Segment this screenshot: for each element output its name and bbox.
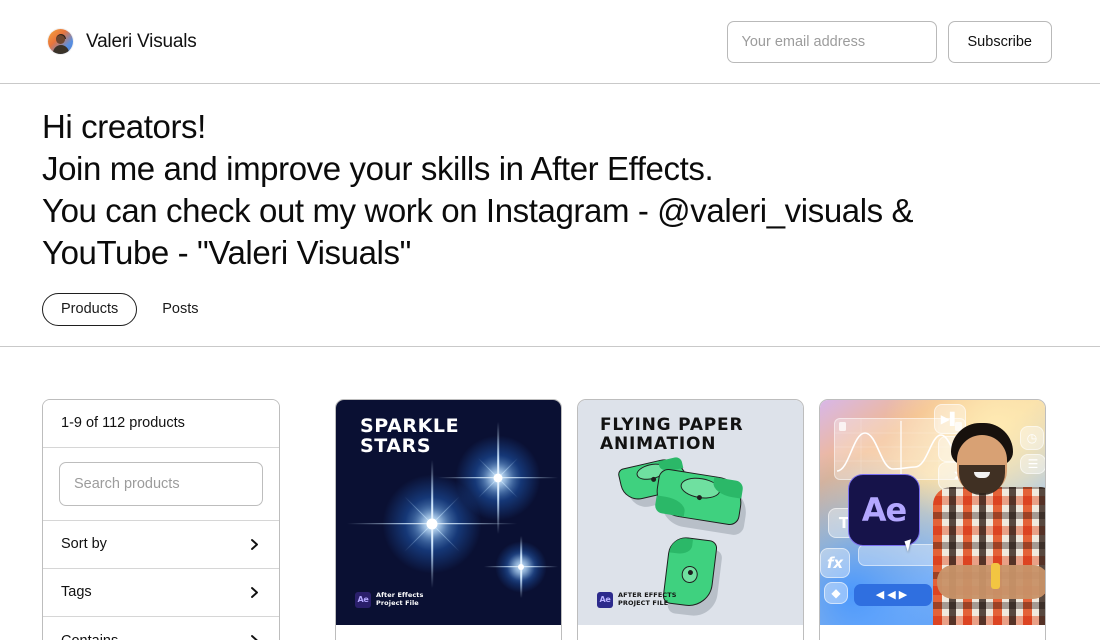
shapes-icon: ◆ [824,582,848,604]
transport-controls: ◀◀▶ [854,584,932,606]
bio-text: Hi creators! Join me and improve your sk… [42,106,1052,274]
product-card-footer [820,625,1045,640]
product-grid: SPARKLE STARS [335,399,1046,640]
product-thumbnail: SPARKLE STARS [336,400,561,625]
search-products-input[interactable] [59,462,263,506]
fx-tool-icon: fx [820,548,850,578]
subscribe-group: Subscribe [727,21,1052,63]
subscribe-button[interactable]: Subscribe [948,21,1052,63]
product-title: SPARKLE STARS [360,416,459,457]
brand[interactable]: Valeri Visuals [48,29,197,54]
tab-products[interactable]: Products [42,293,137,326]
search-products-wrap [43,448,279,521]
product-thumbnail: ▶▌ ▶ ⧗ ◷ ☰ ▤ T fx Panel Compo ◆ ✋ ◀◀▶ Ae [820,400,1045,625]
filter-row-tags[interactable]: Tags [43,569,279,617]
product-title: FLYING PAPER ANIMATION [600,416,743,454]
product-card-sparkle-stars[interactable]: SPARKLE STARS [335,399,562,640]
product-count-label: 1-9 of 112 products [61,415,185,431]
badge-text: After Effects Project File [376,592,423,608]
badge-text: AFTER EFFECTS PROJECT FILE [618,592,677,608]
chevron-right-icon [248,538,261,551]
tab-bar: Products Posts [42,293,1052,326]
product-thumbnail: FLYING PAPER ANIMATION Ae [578,400,803,625]
tab-posts[interactable]: Posts [143,293,217,326]
product-count-row: 1-9 of 112 products [43,400,279,448]
site-header: Valeri Visuals Subscribe [0,0,1100,84]
filter-panel: 1-9 of 112 products Sort by Tags Contain… [42,399,280,640]
chevron-right-icon [248,586,261,599]
product-card-footer [578,625,803,640]
main-content: 1-9 of 112 products Sort by Tags Contain… [0,347,1100,640]
ae-logo-icon: Ae [355,592,371,608]
filter-row-contains[interactable]: Contains [43,617,279,640]
ae-logo-icon: Ae [848,474,920,546]
bio-section: Hi creators! Join me and improve your sk… [0,84,1100,326]
filter-label-sort-by: Sort by [61,536,107,552]
after-effects-badge: Ae After Effects Project File [355,592,423,608]
filter-label-contains: Contains [61,633,118,640]
instructor-photo [933,415,1045,625]
filter-label-tags: Tags [61,584,92,600]
email-input[interactable] [727,21,937,63]
ae-logo-icon: Ae [597,592,613,608]
product-card-after-effects-course[interactable]: ▶▌ ▶ ⧗ ◷ ☰ ▤ T fx Panel Compo ◆ ✋ ◀◀▶ Ae [819,399,1046,640]
brand-name: Valeri Visuals [86,31,197,53]
chevron-right-icon [248,634,261,640]
product-card-footer [336,625,561,640]
filter-row-sort-by[interactable]: Sort by [43,521,279,569]
product-card-flying-paper-animation[interactable]: FLYING PAPER ANIMATION Ae [577,399,804,640]
avatar [48,29,73,54]
after-effects-badge: Ae AFTER EFFECTS PROJECT FILE [597,592,677,608]
banknote-icon [653,467,745,526]
